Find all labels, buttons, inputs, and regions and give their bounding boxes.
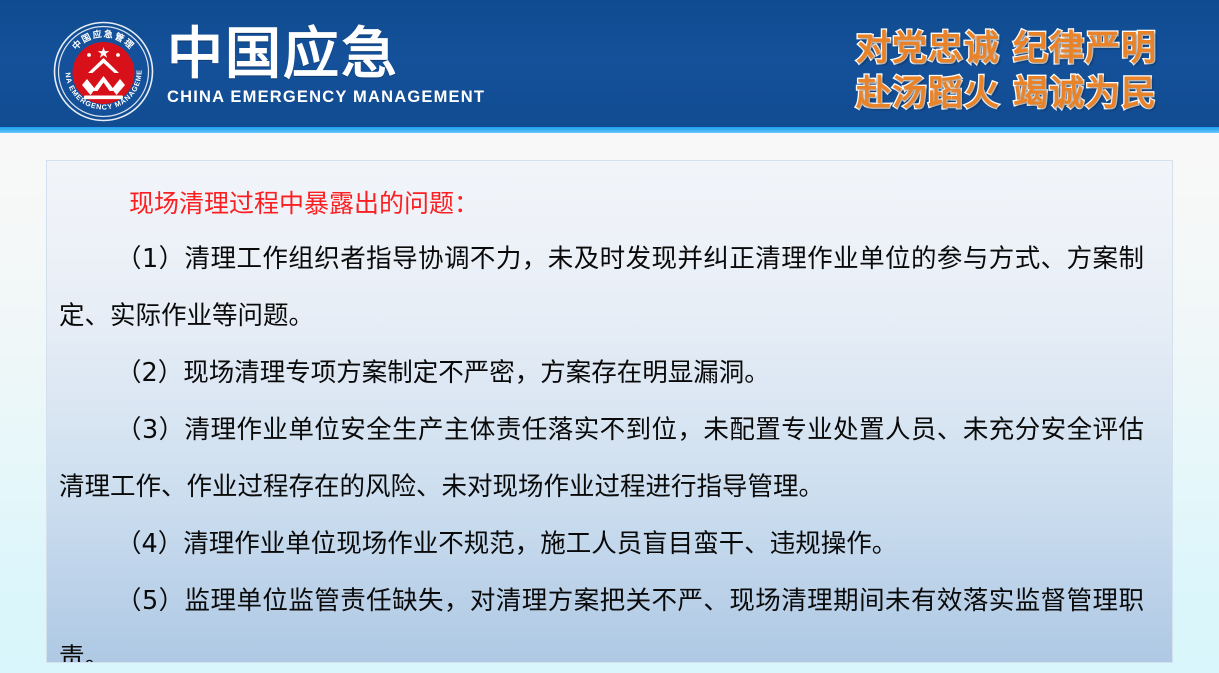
slide: 中国应急管理 CHINA EMERGENCY MANAGEMENT <box>0 0 1219 673</box>
page-header: 中国应急管理 CHINA EMERGENCY MANAGEMENT <box>0 0 1219 133</box>
problem-item-5: （5）监理单位监管责任缺失，对清理方案把关不严、现场清理期间未有效落实监督管理职… <box>53 573 1150 663</box>
header-accent-line <box>0 127 1219 133</box>
problem-item-3: （3）清理作业单位安全生产主体责任落实不到位，未配置专业处置人员、未充分安全评估… <box>53 402 1150 516</box>
china-emergency-management-emblem-icon: 中国应急管理 CHINA EMERGENCY MANAGEMENT <box>53 21 154 122</box>
problem-item-4: （4）清理作业单位现场作业不规范，施工人员盲目蛮干、违规操作。 <box>53 516 1150 573</box>
brand-wordmark: 中国应急 CHINA EMERGENCY MANAGEMENT <box>167 26 427 110</box>
header-slogan: 对党忠诚 纪律严明 赴汤蹈火 竭诚为民 <box>856 27 1157 117</box>
wordmark-chinese: 中国应急 <box>167 26 427 84</box>
section-title: 现场清理过程中暴露出的问题： <box>53 183 1150 225</box>
content-panel-inner: 现场清理过程中暴露出的问题： （1）清理工作组织者指导协调不力，未及时发现并纠正… <box>47 161 1172 663</box>
problem-item-1: （1）清理工作组织者指导协调不力，未及时发现并纠正清理作业单位的参与方式、方案制… <box>53 231 1150 345</box>
slogan-line-1: 对党忠诚 纪律严明 <box>856 27 1157 72</box>
content-panel: 现场清理过程中暴露出的问题： （1）清理工作组织者指导协调不力，未及时发现并纠正… <box>46 160 1173 663</box>
slogan-line-2: 赴汤蹈火 竭诚为民 <box>856 72 1157 117</box>
problem-item-2: （2）现场清理专项方案制定不严密，方案存在明显漏洞。 <box>53 345 1150 402</box>
wordmark-english: CHINA EMERGENCY MANAGEMENT <box>167 87 427 107</box>
